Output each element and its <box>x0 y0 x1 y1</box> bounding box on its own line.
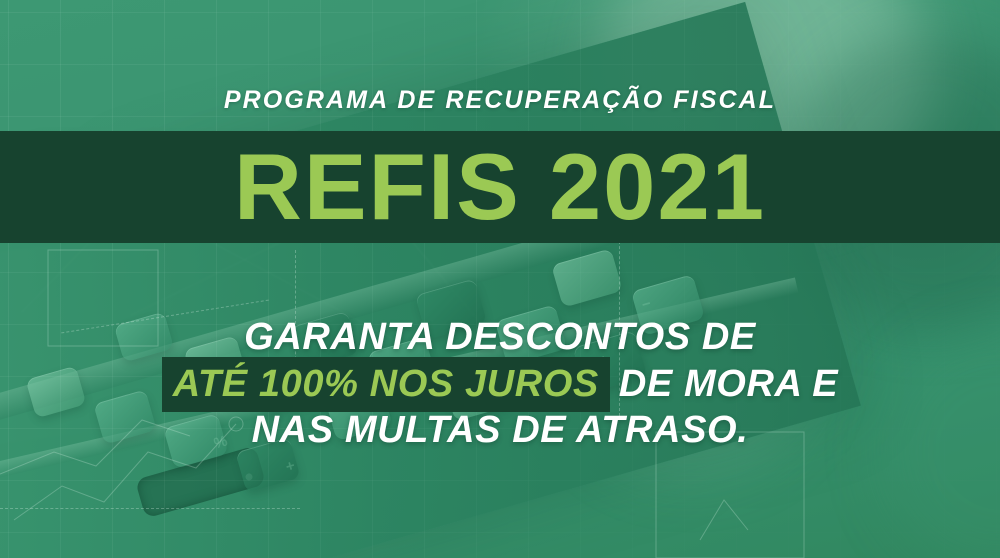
background-blurred-shapes <box>0 0 1000 558</box>
background-chart-lines <box>0 0 1000 558</box>
program-kicker: PROGRAMA DE RECUPERAÇÃO FISCAL <box>0 86 1000 115</box>
offer-description: GARANTA DESCONTOS DE ATÉ 100% NOS JUROSD… <box>0 315 1000 452</box>
background-grid-overlay <box>0 0 1000 558</box>
offer-line-2-tail: DE MORA E <box>619 363 838 405</box>
background-documents <box>0 0 1000 558</box>
background-photo <box>0 0 1000 558</box>
refis-promo-banner: % + × ÷ − PROGRAMA DE RECUPERAÇÃO FISCAL… <box>0 0 1000 558</box>
offer-line-2: ATÉ 100% NOS JUROSDE MORA E <box>0 362 1000 406</box>
offer-line-1: GARANTA DESCONTOS DE <box>0 315 1000 359</box>
background-calculator: % + × ÷ − <box>0 0 1000 558</box>
discount-highlight: ATÉ 100% NOS JUROS <box>162 357 610 412</box>
page-title: REFIS 2021 <box>0 137 1000 237</box>
offer-line-3: NAS MULTAS DE ATRASO. <box>0 408 1000 452</box>
